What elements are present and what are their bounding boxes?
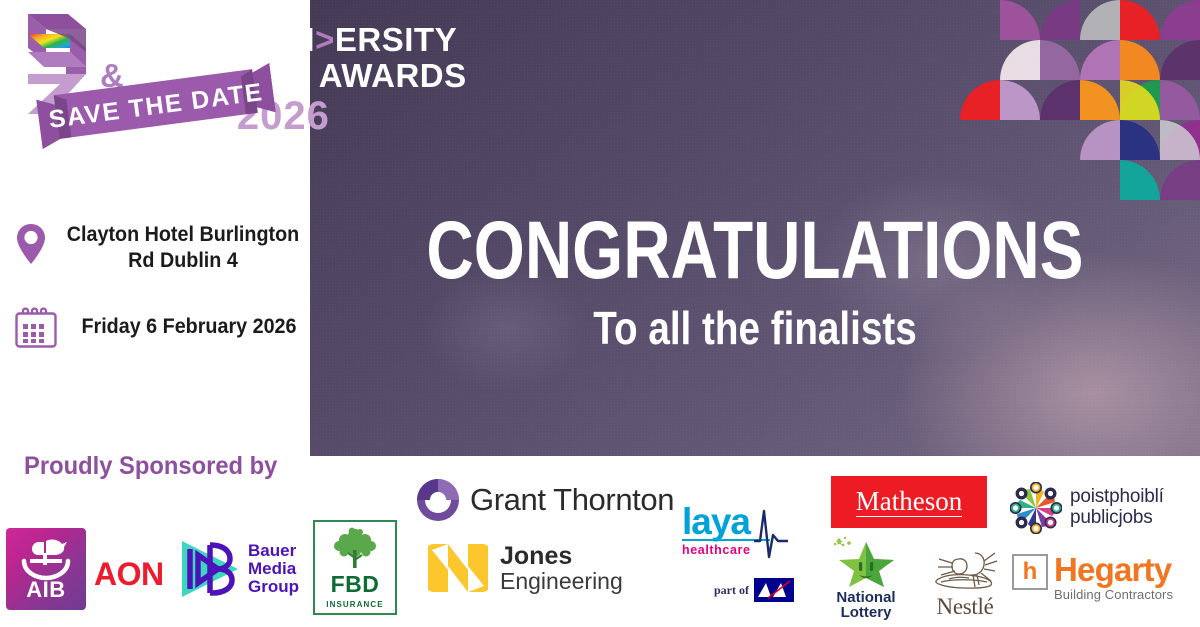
national-lottery-star-icon [826, 535, 906, 589]
venue-address: Clayton Hotel Burlington Rd Dublin 4 [64, 222, 303, 275]
grant-thornton-mark-icon [416, 478, 460, 522]
axa-mark-icon [754, 578, 794, 602]
calendar-icon [14, 305, 58, 349]
jones-wordmark: Jones Engineering [500, 543, 623, 593]
sponsor-logo-jones-engineering: Jones Engineering [428, 540, 623, 596]
publicjobs-line-2: publicjobs [1070, 508, 1164, 529]
sponsored-by-heading: Proudly Sponsored by [24, 452, 277, 481]
natlot-line-1: National [820, 590, 912, 605]
matheson-wordmark: Matheson [856, 487, 962, 517]
bauer-line-2: Media [248, 560, 299, 578]
logo-line1-part-a: NATIONAL DI [100, 21, 315, 58]
jones-line-1: Jones [500, 543, 623, 569]
publicjobs-wordmark: poistphoiblí publicjobs [1070, 487, 1164, 528]
publicjobs-mark-icon [1010, 482, 1062, 534]
mosaic-decoration [960, 0, 1200, 200]
location-pin-icon [14, 222, 48, 266]
bauer-line-1: Bauer [248, 542, 299, 560]
hegarty-name: Hegarty [1054, 554, 1173, 586]
sponsor-logo-aib: AIB [6, 528, 86, 610]
headline: CONGRATULATIONS [399, 212, 1111, 291]
sponsor-logo-matheson: Matheson [831, 476, 987, 528]
fbd-box: FBD INSURANCE [313, 520, 397, 615]
hegarty-subtitle: Building Contractors [1054, 587, 1173, 602]
sponsor-logo-hegarty: h Hegarty Building Contractors [1012, 554, 1173, 602]
subheadline: To all the finalists [381, 305, 1129, 351]
fbd-subtitle: INSURANCE [326, 600, 383, 609]
sponsor-logo-aon: AON [94, 556, 164, 593]
laya-heartbeat-icon [744, 501, 790, 567]
aib-wordmark: AIB [6, 577, 86, 603]
nestle-nest-icon [929, 547, 1001, 595]
venue-row: Clayton Hotel Burlington Rd Dublin 4 [14, 222, 310, 275]
sponsor-logo-bauer-media-group: Bauer Media Group [176, 528, 310, 610]
sponsor-logo-axa: part of [714, 578, 794, 602]
bauer-wordmark: Bauer Media Group [248, 542, 299, 596]
fbd-tree-icon [327, 526, 383, 570]
event-date: Friday 6 February 2026 [75, 315, 302, 339]
date-row: Friday 6 February 2026 [14, 305, 310, 349]
hegarty-wordmark: Hegarty Building Contractors [1054, 554, 1173, 602]
sponsor-logo-publicjobs: poistphoiblí publicjobs [1010, 482, 1164, 534]
fbd-wordmark: FBD [331, 571, 380, 598]
sponsor-logo-laya-healthcare: laya healthcare [682, 505, 792, 557]
sponsor-logo-fbd-insurance: FBD INSURANCE [313, 520, 397, 615]
axa-part-of-label: part of [714, 583, 749, 598]
sponsor-logo-national-lottery: National Lottery [820, 535, 912, 621]
jones-line-2: Engineering [500, 569, 623, 593]
publicjobs-line-1: poistphoiblí [1070, 487, 1164, 508]
bauer-mark-icon [176, 535, 246, 603]
grant-thornton-wordmark: Grant Thornton [470, 482, 674, 518]
logo-line1-part-b: ERSITY [335, 21, 457, 58]
nestle-wordmark: Nestlé [925, 594, 1005, 620]
jones-n-icon [428, 540, 488, 596]
save-the-date-poster: CONGRATULATIONS To all the finalists [0, 0, 1200, 627]
hegarty-h-icon: h [1012, 554, 1048, 590]
sponsor-logo-nestle: Nestlé [925, 547, 1005, 620]
sponsor-logo-grant-thornton: Grant Thornton [416, 478, 674, 522]
aon-wordmark: AON [94, 556, 164, 593]
national-lottery-wordmark: National Lottery [820, 590, 912, 621]
logo-chevron-glyph: > [315, 21, 335, 58]
logo-line-1: NATIONAL DI>ERSITY [100, 22, 467, 58]
natlot-line-2: Lottery [820, 605, 912, 620]
bauer-line-3: Group [248, 578, 299, 596]
hero-copy: CONGRATULATIONS To all the finalists [310, 212, 1200, 351]
